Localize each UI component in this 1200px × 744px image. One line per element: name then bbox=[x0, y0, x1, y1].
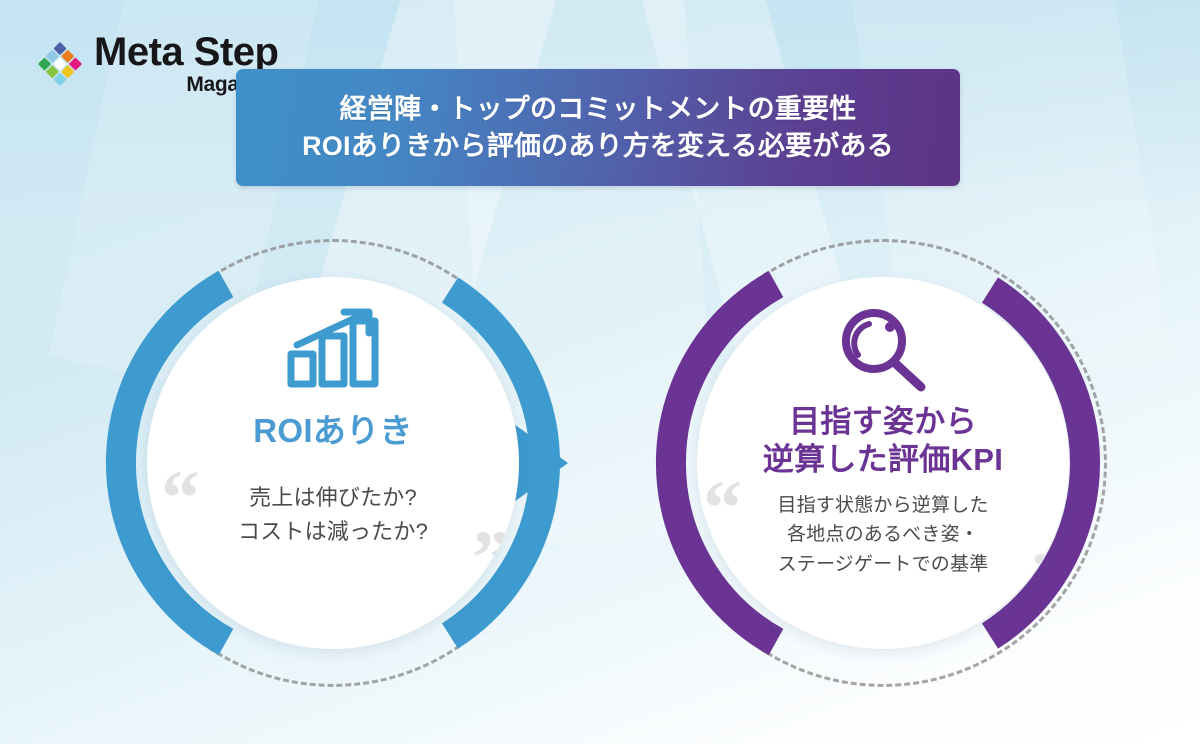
quote-close-icon: ” bbox=[472, 519, 511, 597]
logo-word-meta: Meta bbox=[94, 30, 183, 74]
card-title-left: ROIありき bbox=[253, 411, 412, 451]
quote-close-icon: ” bbox=[1030, 541, 1069, 619]
card-quote-right: “ ” 目指す状態から逆算した 各地点のあるべき姿・ ステージゲートでの基準 bbox=[697, 491, 1069, 579]
logo-title: Meta Step bbox=[94, 32, 278, 72]
card-body-left: 売上は伸びたか? コストは減ったか? bbox=[238, 481, 428, 549]
quote-open-icon: “ bbox=[703, 469, 742, 547]
card-title-line-1: 目指す姿から bbox=[763, 403, 1003, 441]
bar-chart-growth-icon bbox=[284, 309, 382, 389]
card-body-right: 目指す状態から逆算した 各地点のあるべき姿・ ステージゲートでの基準 bbox=[777, 491, 988, 579]
quote-open-icon: “ bbox=[161, 459, 200, 537]
card-disc-left: ROIありき “ ” 売上は伸びたか? コストは減ったか? bbox=[147, 277, 519, 649]
slide-canvas: Meta Step Magazine 経営陣・トップのコミットメントの重要性 R… bbox=[0, 0, 1200, 744]
card-title-right: 目指す姿から 逆算した評価KPI bbox=[763, 403, 1003, 479]
card-roi-ariki: ROIありき “ ” 売上は伸びたか? コストは減ったか? bbox=[98, 228, 568, 698]
card-body-line: 目指す状態から逆算した bbox=[777, 491, 988, 520]
card-body-line: 売上は伸びたか? bbox=[238, 481, 428, 515]
card-body-line: コストは減ったか? bbox=[238, 515, 428, 549]
card-disc-right: 目指す姿から 逆算した評価KPI “ ” 目指す状態から逆算した 各地点のあるべ… bbox=[697, 277, 1069, 649]
card-body-line: 各地点のあるべき姿・ bbox=[777, 520, 988, 549]
banner-line-1: 経営陣・トップのコミットメントの重要性 bbox=[340, 91, 857, 127]
card-title-line-2: 逆算した評価KPI bbox=[763, 441, 1003, 479]
card-body-line: ステージゲートでの基準 bbox=[777, 550, 988, 579]
logo-word-step: Step bbox=[194, 30, 279, 74]
banner-line-2: ROIありきから評価のあり方を変える必要がある bbox=[302, 128, 894, 164]
diamond-grid-icon bbox=[34, 38, 86, 90]
magnifier-icon bbox=[837, 309, 929, 389]
card-quote-left: “ ” 売上は伸びたか? コストは減ったか? bbox=[147, 481, 519, 549]
card-mezasu-sugata-kpi: 目指す姿から 逆算した評価KPI “ ” 目指す状態から逆算した 各地点のあるべ… bbox=[648, 228, 1118, 698]
header-banner: 経営陣・トップのコミットメントの重要性 ROIありきから評価のあり方を変える必要… bbox=[236, 69, 960, 186]
